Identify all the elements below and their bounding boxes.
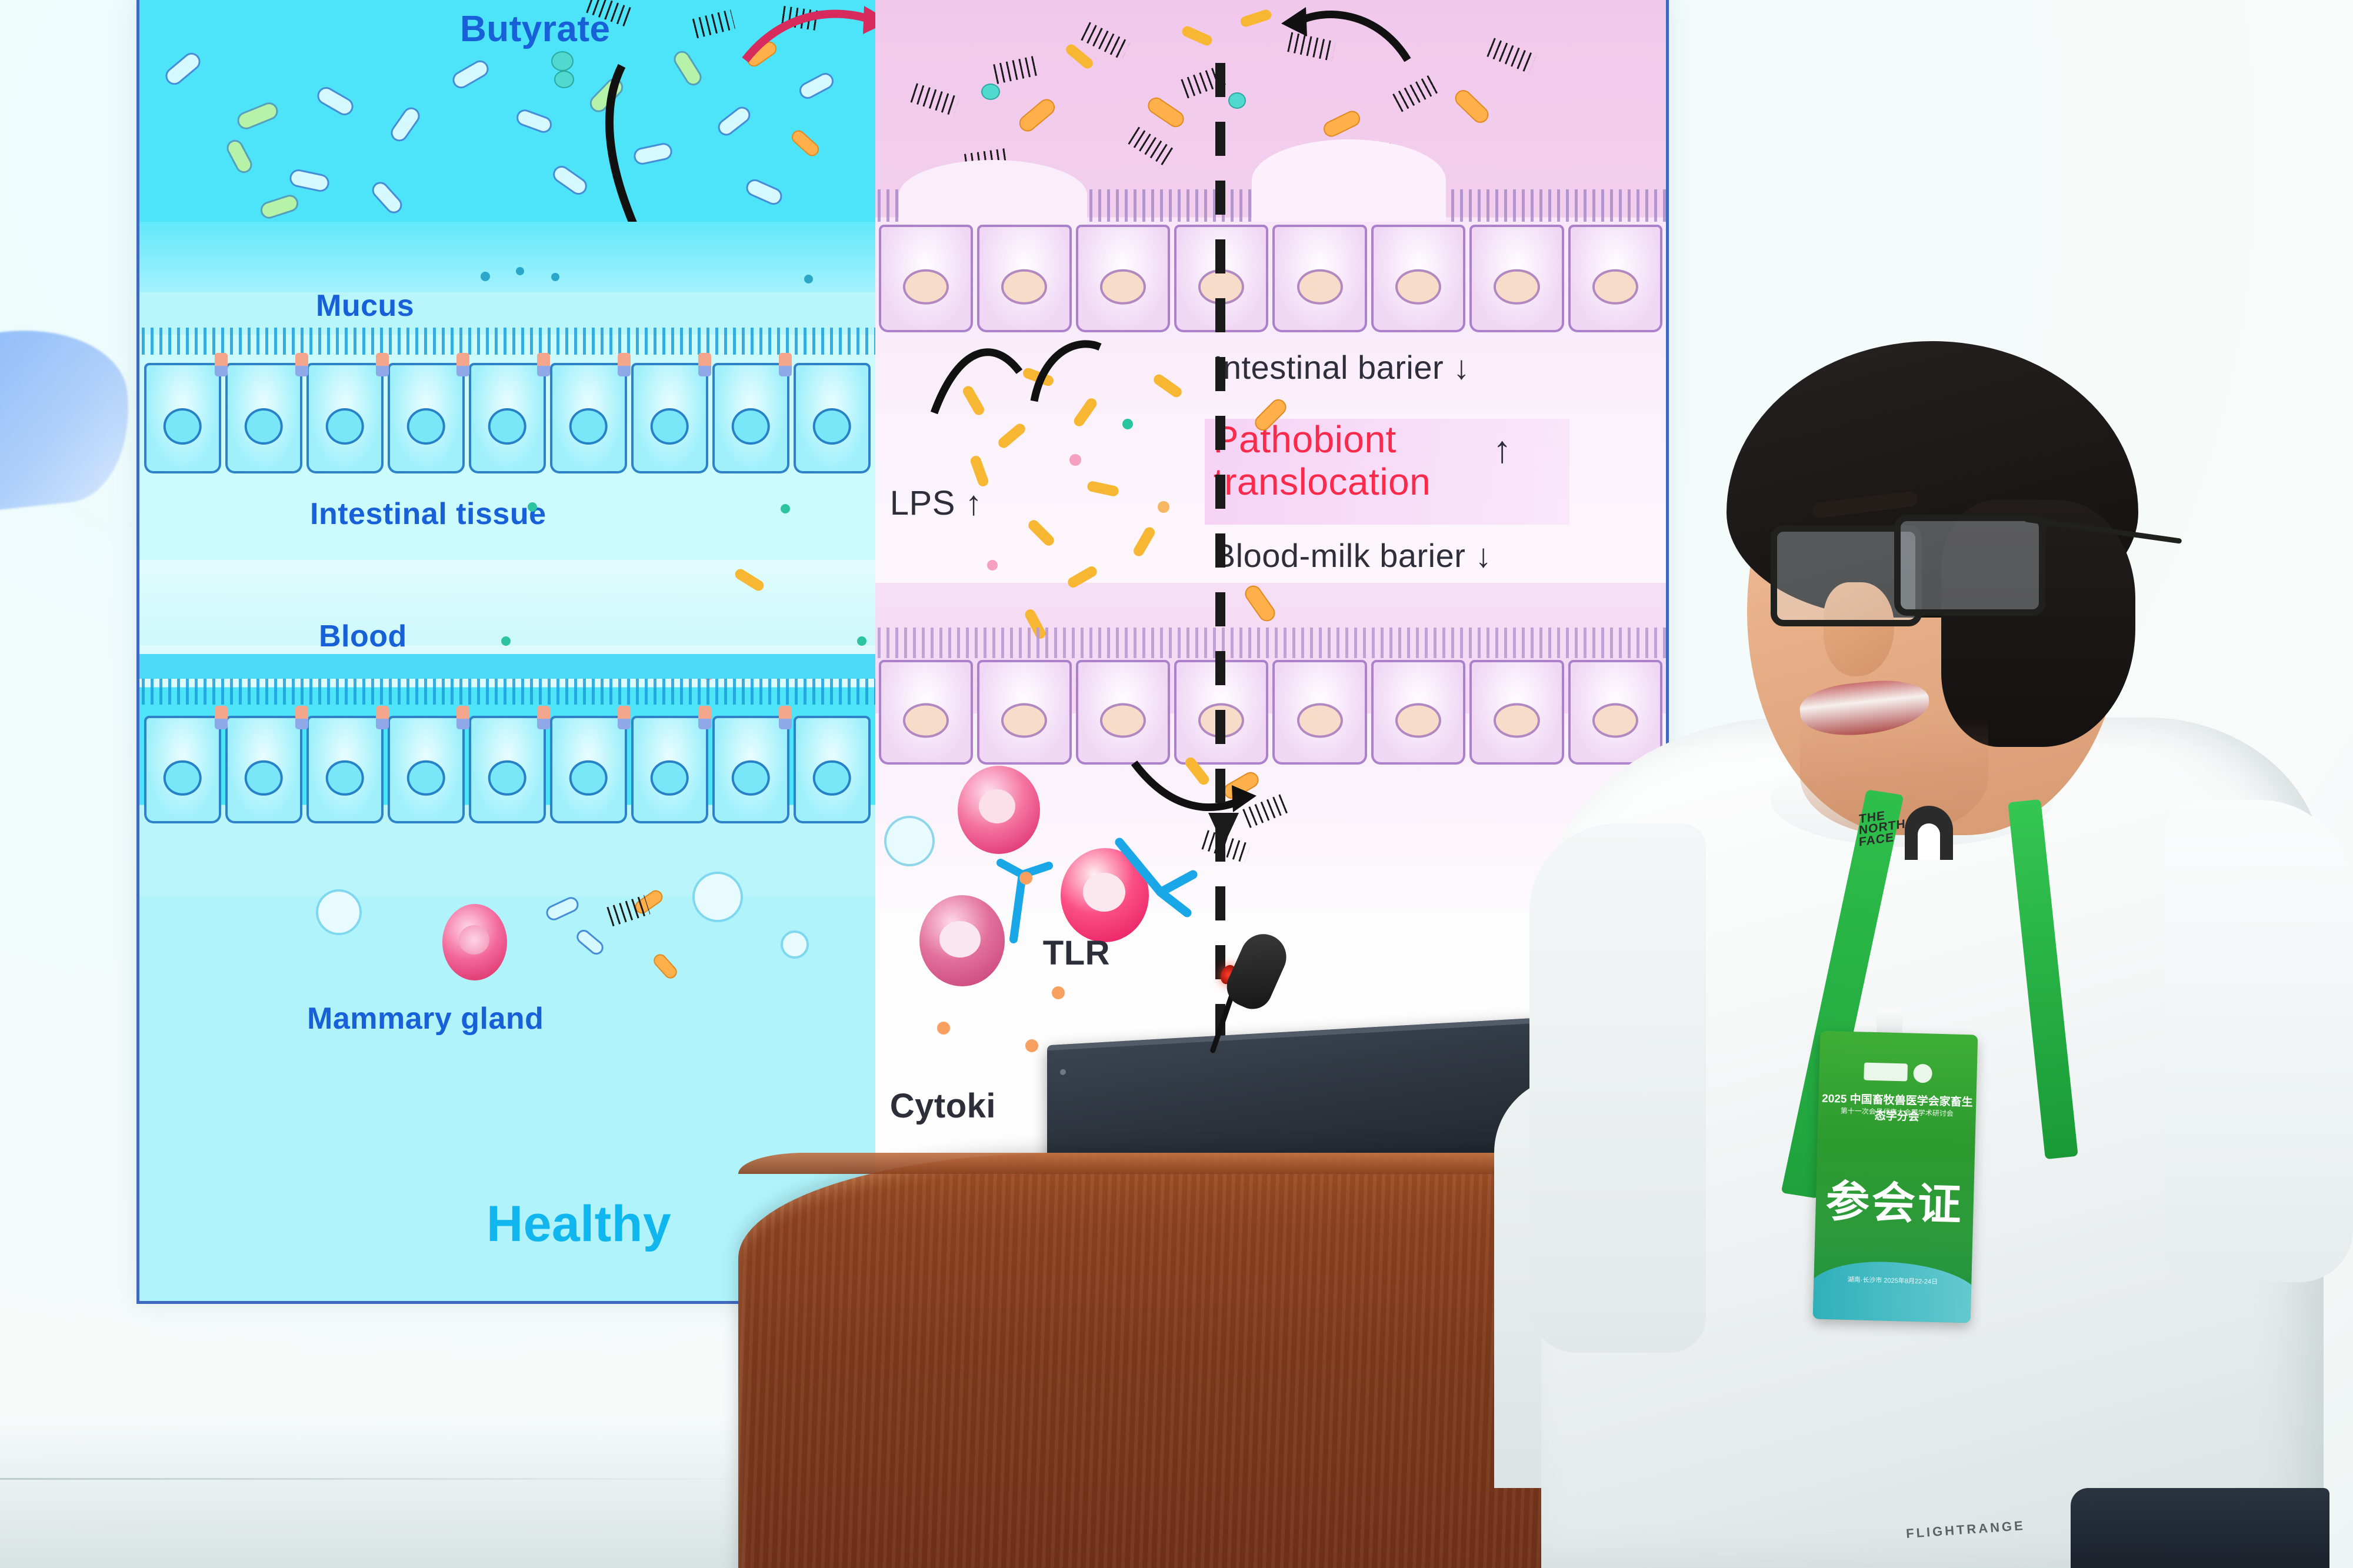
mammary-cell-damaged — [879, 660, 973, 765]
cytokine-dot — [1019, 872, 1032, 885]
slide-label-blood-milk-barier: Blood-milk barier ↓ — [1214, 536, 1492, 575]
tight-junction — [537, 353, 550, 376]
slide-label-lps: LPS ↑ — [890, 483, 982, 523]
wall-trim-line — [0, 1478, 765, 1480]
mammary-epithelial-cell — [794, 716, 871, 823]
slide-divider-dashed — [1215, 63, 1225, 1063]
bacteria-rod — [388, 104, 423, 145]
particle-dot — [857, 636, 866, 646]
epithelial-cell — [469, 363, 546, 473]
mammary-cell-row — [139, 716, 875, 819]
butyrate-molecule — [554, 71, 574, 88]
slide-label-intestinal-tissue: Intestinal tissue — [310, 496, 546, 532]
mammary-cell-damaged — [1076, 660, 1170, 765]
butyrate-up-arrow-icon — [734, 0, 898, 78]
laptop-hinge-dot — [1060, 1069, 1066, 1076]
slide-divider-arrow-icon — [1208, 813, 1239, 846]
slide-label-pathobiont-line1: Pathobiont — [1214, 418, 1397, 461]
pathobiont-orange — [1321, 108, 1362, 139]
flagellated-bacteria — [991, 55, 1039, 84]
slide-label-butyrate: Butyrate — [460, 8, 611, 50]
slide-label-intestinal-barier: Intestinal barier ↓ — [1214, 348, 1470, 386]
lps-molecule — [1180, 25, 1214, 47]
mammary-epithelial-cell — [712, 716, 789, 823]
pathobiont-orange — [651, 952, 679, 981]
cytokine-dot — [1052, 986, 1065, 999]
epithelial-cell — [631, 363, 708, 473]
bacteria-rod — [369, 179, 405, 217]
mammary-epithelial-cell — [144, 716, 221, 823]
badge-seal-logo — [1913, 1064, 1932, 1083]
pathobiont-orange — [1145, 94, 1187, 130]
pathobiont-orange — [1242, 582, 1278, 625]
particle-dot — [501, 636, 511, 646]
epithelial-cell — [144, 363, 221, 473]
tight-junction — [376, 706, 389, 729]
pathobiont-orange — [1452, 86, 1492, 126]
epithelial-cell — [306, 363, 384, 473]
cytokine-dot — [1122, 419, 1133, 429]
cytokine-dot — [987, 560, 998, 571]
tight-junction — [618, 706, 631, 729]
immune-cell-ring — [692, 872, 743, 922]
tight-junction — [698, 353, 711, 376]
lps-molecule — [996, 422, 1027, 450]
epithelial-cell — [388, 363, 465, 473]
lps-molecule — [1064, 42, 1095, 71]
mucus-erosion — [899, 160, 1087, 231]
mammary-lumen-band — [139, 654, 875, 679]
bacteria-rod — [224, 137, 255, 176]
bacteria-rod — [449, 57, 492, 91]
bacteria-rod — [162, 49, 204, 89]
bacteria-rod — [544, 895, 581, 923]
bacteria-rod — [744, 176, 785, 208]
presentation-photo: Butyrate Mucus — [0, 0, 2353, 1568]
mammary-epithelial-cell — [388, 716, 465, 823]
mammary-epithelial-cell — [631, 716, 708, 823]
tight-junction — [295, 706, 308, 729]
cytokine-dot — [937, 1022, 950, 1035]
tight-junction — [295, 353, 308, 376]
lps-molecule — [969, 455, 989, 488]
particle-dot — [481, 272, 490, 281]
bacteria-rod — [235, 100, 281, 132]
tight-junction — [698, 706, 711, 729]
lps-molecule — [1086, 481, 1120, 498]
bacteria-rod — [288, 168, 331, 193]
wall-shadow — [0, 1415, 824, 1568]
epithelial-cell — [550, 363, 627, 473]
tight-junction — [215, 353, 228, 376]
tight-junction — [376, 353, 389, 376]
butyrate-molecule — [1228, 92, 1246, 109]
bacteria-rod — [574, 927, 606, 958]
particle-dot — [781, 504, 790, 513]
epithelial-cell-row — [139, 363, 875, 469]
disease-arrow-icon — [1281, 0, 1422, 72]
particle-dot — [516, 267, 524, 275]
mammary-cell-damaged — [1272, 660, 1367, 765]
slide-label-pathobiont-line2: translocation — [1214, 460, 1431, 503]
speaker-sleeve-right — [2165, 800, 2353, 1282]
speaker-sleeve-left — [1529, 823, 1706, 1353]
mammary-cell-damaged — [977, 660, 1071, 765]
conference-badge: 2025 中国畜牧兽医学会家畜生态学分会 第十一次会员代表大会暨学术研讨会 参会… — [1813, 1031, 1978, 1323]
bacteria-rod — [514, 107, 554, 135]
mammary-epithelial-cell — [550, 716, 627, 823]
north-face-dome-icon — [1905, 806, 1953, 860]
pathobiont-orange — [1016, 96, 1058, 135]
blood-layer — [139, 560, 875, 645]
lps-molecule — [1239, 8, 1272, 28]
flagellated-bacteria — [1485, 37, 1536, 73]
slide-label-cytokine: Cytoki — [890, 1086, 996, 1126]
inflammation-arrow-icon — [1128, 751, 1264, 833]
lps-molecule — [1066, 565, 1099, 590]
tight-junction — [779, 353, 792, 376]
slide-left-panel-healthy: Butyrate Mucus — [139, 0, 875, 1301]
tight-junction — [537, 706, 550, 729]
flagellated-bacteria — [908, 82, 959, 116]
tlr-receptor-icon — [990, 851, 1084, 945]
immune-cell-ring — [781, 930, 809, 959]
epithelial-cell — [225, 363, 302, 473]
tight-junction — [456, 706, 469, 729]
tight-junction — [618, 353, 631, 376]
mammary-epithelial-cell — [225, 716, 302, 823]
tight-junction — [456, 353, 469, 376]
north-face-logo: THE NORTH FACE — [1859, 800, 1953, 866]
badge-association-logo — [1864, 1063, 1908, 1082]
eyeglass-lens-right — [1894, 515, 2045, 616]
bacteria-rod — [549, 162, 590, 198]
mammary-epithelial-cell — [469, 716, 546, 823]
cytokine-dot — [1158, 501, 1169, 513]
bacteria-rod — [258, 193, 301, 221]
cytokine-dot — [1025, 1039, 1038, 1052]
red-blood-cell — [442, 904, 507, 980]
slide-label-tlr: TLR — [1043, 933, 1110, 973]
intestinal-villi — [139, 328, 875, 355]
particle-dot — [528, 502, 537, 512]
slide-label-mammary-gland: Mammary gland — [307, 1001, 544, 1036]
slide-label-mucus: Mucus — [316, 288, 414, 323]
epithelial-cell — [712, 363, 789, 473]
flagellated-bacteria — [691, 9, 735, 39]
flagellated-bacteria — [1126, 126, 1176, 167]
cytokine-dot — [1069, 454, 1081, 466]
immune-cell-ring — [316, 889, 362, 935]
translocation-arrow-icon — [916, 313, 1111, 419]
particle-dot — [804, 275, 813, 283]
mucus-layer — [139, 222, 875, 292]
badge-wave-graphic — [1813, 1260, 1978, 1323]
badge-logo-group — [1819, 1062, 1977, 1085]
bacteria-rod — [314, 84, 356, 119]
mammary-epithelial-cell — [306, 716, 384, 823]
butyrate-molecule — [551, 51, 574, 71]
lps-molecule — [1152, 372, 1184, 399]
epithelial-cell-damaged — [1272, 225, 1367, 332]
speaker: 2025 中国畜牧兽医学会家畜生态学分会 第十一次会员代表大会暨学术研讨会 参会… — [1494, 306, 2353, 1568]
speaker-eyeglasses — [1771, 515, 2077, 609]
slide-label-blood: Blood — [319, 619, 407, 654]
epithelial-cell — [794, 363, 871, 473]
immune-cell-ring — [884, 816, 935, 866]
lps-molecule — [1026, 518, 1056, 548]
slide-title-healthy: Healthy — [486, 1195, 671, 1253]
flagellated-bacteria — [605, 895, 650, 927]
tight-junction — [215, 706, 228, 729]
flagellated-bacteria — [1391, 74, 1439, 113]
mammary-villi — [139, 678, 875, 705]
epithelial-cell-damaged — [1371, 225, 1465, 332]
particle-dot — [551, 273, 559, 281]
tlr-receptor-icon — [1105, 825, 1217, 925]
mucus-erosion — [1252, 139, 1446, 222]
pathobiont-orange — [789, 128, 822, 159]
mammary-cell-damaged — [1371, 660, 1465, 765]
flagellated-bacteria — [1079, 21, 1130, 60]
speaker-trousers — [2071, 1488, 2329, 1568]
butyrate-molecule — [981, 84, 1000, 100]
immune-cell-red — [958, 766, 1040, 854]
lps-molecule — [1131, 525, 1156, 558]
tight-junction — [779, 706, 792, 729]
north-face-wordmark: THE NORTH FACE — [1859, 807, 1906, 848]
badge-type-label: 参会证 — [1815, 1166, 1975, 1233]
